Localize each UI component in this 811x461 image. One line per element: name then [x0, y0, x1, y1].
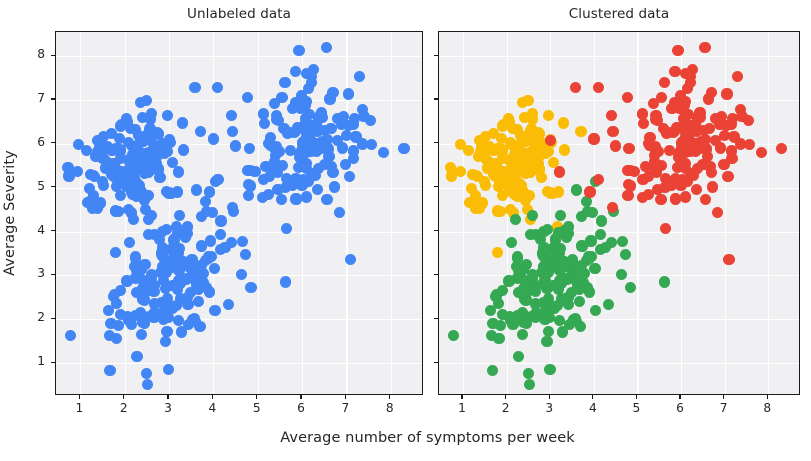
right-y-tick-mark — [434, 142, 438, 143]
right-x-tick-label: 8 — [753, 401, 781, 415]
scatter-point-clustered — [721, 88, 732, 99]
scatter-point-clustered — [610, 140, 621, 151]
scatter-point — [245, 180, 256, 191]
scatter-point — [272, 184, 283, 195]
scatter-point-clustered — [513, 152, 524, 163]
scatter-point-clustered — [487, 365, 498, 376]
left-x-tick-label: 1 — [65, 401, 93, 415]
scatter-point-clustered — [515, 180, 526, 191]
scatter-point-clustered — [496, 167, 507, 178]
right-x-tick-label: 6 — [666, 401, 694, 415]
scatter-point — [141, 368, 152, 379]
scatter-point-clustered — [497, 309, 508, 320]
scatter-point — [135, 273, 146, 284]
scatter-point-clustered — [625, 282, 636, 293]
scatter-point — [237, 236, 248, 247]
scatter-point-clustered — [554, 166, 565, 177]
scatter-point — [115, 285, 126, 296]
scatter-point — [145, 210, 156, 221]
scatter-point-clustered — [574, 296, 585, 307]
scatter-point — [174, 210, 185, 221]
scatter-point — [259, 118, 270, 129]
scatter-point-clustered — [492, 205, 503, 216]
scatter-point-clustered — [699, 42, 710, 53]
scatter-point-clustered — [600, 242, 611, 253]
scatter-point — [230, 140, 241, 151]
left-y-tick-mark — [51, 55, 55, 56]
scatter-point — [164, 255, 175, 266]
left-y-tick-label: 3 — [15, 266, 45, 280]
panel-title-right: Clustered data — [438, 6, 800, 22]
scatter-point-clustered — [538, 226, 549, 237]
scatter-point-clustered — [522, 95, 533, 106]
scatter-point — [227, 202, 238, 213]
scatter-point — [143, 190, 154, 201]
scatter-point-clustered — [559, 144, 570, 155]
left-y-tick-label: 2 — [15, 310, 45, 324]
scatter-point — [195, 126, 206, 137]
scatter-point-clustered — [707, 181, 718, 192]
scatter-point-clustered — [659, 276, 670, 287]
gridline-vertical — [80, 32, 81, 394]
scatter-point — [321, 194, 332, 205]
right-x-tick-mark — [679, 395, 680, 399]
scatter-point — [193, 296, 204, 307]
scatter-point — [208, 133, 219, 144]
scatter-point — [340, 159, 351, 170]
scatter-point — [141, 95, 152, 106]
scatter-point — [177, 117, 188, 128]
scatter-point-clustered — [637, 174, 648, 185]
scatter-point-clustered — [593, 82, 604, 93]
scatter-point — [173, 166, 184, 177]
left-y-tick-mark — [51, 142, 55, 143]
x-axis-label: Average number of symptoms per week — [55, 430, 800, 446]
right-x-tick-label: 7 — [710, 401, 738, 415]
scatter-point-clustered — [721, 120, 732, 131]
scatter-point-clustered — [495, 320, 506, 331]
scatter-point — [332, 113, 343, 124]
scatter-point-clustered — [596, 215, 607, 226]
scatter-point — [293, 162, 304, 173]
scatter-point-clustered — [681, 123, 692, 134]
scatter-point — [131, 152, 142, 163]
scatter-point-clustered — [576, 240, 587, 251]
scatter-point-clustered — [669, 66, 680, 77]
right-y-tick-mark — [434, 362, 438, 363]
scatter-point — [242, 92, 253, 103]
left-y-tick-label: 7 — [15, 91, 45, 105]
scatter-point-clustered — [543, 326, 554, 337]
right-x-tick-mark — [592, 395, 593, 399]
scatter-point — [281, 223, 292, 234]
scatter-point — [146, 269, 157, 280]
right-y-tick-mark — [434, 186, 438, 187]
scatter-point-clustered — [603, 299, 614, 310]
scatter-point-clustered — [448, 330, 459, 341]
scatter-point — [114, 167, 125, 178]
scatter-point-clustered — [756, 147, 767, 158]
scatter-point-clustered — [535, 147, 546, 158]
scatter-point-clustered — [732, 71, 743, 82]
gridline-vertical — [463, 32, 464, 394]
scatter-point — [291, 193, 302, 204]
scatter-point — [280, 276, 291, 287]
scatter-point — [115, 309, 126, 320]
scatter-point-clustered — [582, 282, 593, 293]
right-x-tick-mark — [549, 395, 550, 399]
scatter-point-clustered — [623, 143, 634, 154]
gridline-horizontal — [439, 363, 799, 364]
left-x-tick-label: 2 — [110, 401, 138, 415]
scatter-point-clustered — [523, 368, 534, 379]
scatter-point-clustered — [659, 77, 670, 88]
scatter-point — [327, 167, 338, 178]
left-x-tick-label: 7 — [331, 401, 359, 415]
scatter-point — [219, 242, 230, 253]
scatter-point-clustered — [527, 210, 538, 221]
scatter-point-clustered — [563, 221, 574, 232]
scatter-point-clustered — [584, 186, 595, 197]
scatter-point-clustered — [706, 167, 717, 178]
scatter-point — [223, 299, 234, 310]
scatter-point-clustered — [554, 265, 565, 276]
left-y-tick-label: 4 — [15, 223, 45, 237]
scatter-point-clustered — [682, 109, 693, 120]
scatter-point-clustered — [575, 321, 586, 332]
scatter-point — [290, 66, 301, 77]
scatter-point — [209, 305, 220, 316]
scatter-point — [189, 82, 200, 93]
scatter-point — [139, 259, 150, 270]
scatter-point — [303, 109, 314, 120]
scatter-point-clustered — [544, 364, 555, 375]
scatter-point-clustered — [576, 211, 587, 222]
scatter-point — [136, 288, 147, 299]
scatter-point-clustered — [694, 137, 705, 148]
gridline-vertical — [768, 32, 769, 394]
left-x-tick-mark — [167, 395, 168, 399]
scatter-point — [123, 179, 134, 190]
scatter-point-clustered — [625, 180, 636, 191]
scatter-point — [163, 187, 174, 198]
y-axis-label: Average Severity — [2, 148, 18, 278]
scatter-point-clustered — [700, 194, 711, 205]
scatter-point-clustered — [704, 123, 715, 134]
scatter-point-clustered — [723, 254, 734, 265]
scatter-point-clustered — [718, 159, 729, 170]
scatter-point — [277, 160, 288, 171]
scatter-point-clustered — [691, 184, 702, 195]
scatter-point-clustered — [607, 126, 618, 137]
scatter-point-clustered — [524, 190, 535, 201]
scatter-point-clustered — [555, 210, 566, 221]
scatter-point — [124, 237, 135, 248]
scatter-plot-unlabeled — [55, 31, 423, 395]
right-x-tick-label: 2 — [492, 401, 520, 415]
left-x-tick-mark — [212, 395, 213, 399]
scatter-point-clustered — [506, 237, 517, 248]
left-x-tick-label: 8 — [376, 401, 404, 415]
left-y-tick-mark — [51, 186, 55, 187]
scatter-point — [378, 147, 389, 158]
scatter-point — [206, 251, 217, 262]
scatter-point — [162, 110, 173, 121]
scatter-point-clustered — [570, 82, 581, 93]
scatter-point — [357, 138, 368, 149]
scatter-point-clustered — [622, 92, 633, 103]
scatter-point — [244, 143, 255, 154]
scatter-point — [344, 171, 355, 182]
scatter-point-clustered — [586, 251, 597, 262]
scatter-point-clustered — [590, 305, 601, 316]
scatter-point-clustered — [735, 138, 746, 149]
scatter-point — [301, 96, 312, 107]
left-y-tick-label: 8 — [15, 47, 45, 61]
left-y-tick-mark — [51, 98, 55, 99]
scatter-point — [164, 135, 175, 146]
scatter-point-clustered — [672, 162, 683, 173]
gridline-horizontal — [56, 56, 422, 57]
scatter-point-clustered — [656, 92, 667, 103]
left-y-tick-mark — [51, 274, 55, 275]
scatter-point-clustered — [638, 118, 649, 129]
scatter-point-clustered — [517, 307, 528, 318]
scatter-point — [365, 115, 376, 126]
scatter-point-clustered — [571, 184, 582, 195]
scatter-point — [212, 82, 223, 93]
scatter-point — [334, 207, 345, 218]
left-x-tick-mark — [123, 395, 124, 399]
scatter-point-clustered — [694, 107, 705, 118]
scatter-point — [135, 307, 146, 318]
scatter-point — [276, 92, 287, 103]
scatter-point — [302, 123, 313, 134]
scatter-point-clustered — [588, 133, 599, 144]
scatter-point-clustered — [572, 263, 583, 274]
scatter-point-clustered — [510, 214, 521, 225]
left-x-tick-label: 4 — [198, 401, 226, 415]
scatter-point — [209, 263, 220, 274]
right-y-tick-mark — [434, 98, 438, 99]
scatter-point-clustered — [620, 249, 631, 260]
left-x-tick-label: 6 — [287, 401, 315, 415]
scatter-point — [136, 329, 147, 340]
left-x-tick-mark — [300, 395, 301, 399]
scatter-point-clustered — [513, 351, 524, 362]
scatter-point — [245, 165, 256, 176]
scatter-point-clustered — [776, 143, 787, 154]
scatter-point — [226, 110, 237, 121]
gridline-horizontal — [56, 100, 422, 101]
left-y-tick-mark — [51, 318, 55, 319]
right-y-tick-mark — [434, 55, 438, 56]
right-x-tick-label: 4 — [579, 401, 607, 415]
scatter-point-clustered — [467, 169, 478, 180]
scatter-point-clustered — [715, 142, 726, 153]
scatter-point — [182, 221, 193, 232]
scatter-point — [139, 318, 150, 329]
scatter-point-clustered — [743, 115, 754, 126]
gridline-vertical — [346, 32, 347, 394]
gridline-vertical — [725, 32, 726, 394]
left-y-tick-mark — [51, 230, 55, 231]
scatter-point — [196, 240, 207, 251]
scatter-point-clustered — [606, 110, 617, 121]
scatter-point-clustered — [710, 113, 721, 124]
scatter-point — [398, 143, 409, 154]
scatter-point — [191, 184, 202, 195]
left-x-tick-mark — [256, 395, 257, 399]
scatter-point-clustered — [680, 191, 691, 202]
scatter-point — [337, 142, 348, 153]
scatter-point — [271, 141, 282, 152]
gridline-horizontal — [439, 56, 799, 57]
scatter-point — [293, 45, 304, 56]
scatter-point — [343, 120, 354, 131]
scatter-point — [62, 162, 73, 173]
scatter-point-clustered — [593, 174, 604, 185]
left-y-tick-label: 1 — [15, 354, 45, 368]
scatter-point — [196, 211, 207, 222]
scatter-point-clustered — [656, 160, 667, 171]
gridline-horizontal — [439, 232, 799, 233]
figure-canvas: Unlabeled data Clustered data 1234567812… — [0, 0, 811, 461]
left-x-tick-mark — [389, 395, 390, 399]
scatter-point-clustered — [545, 187, 556, 198]
scatter-point-clustered — [607, 202, 618, 213]
scatter-point — [204, 186, 215, 197]
scatter-point — [156, 247, 167, 258]
scatter-point — [144, 123, 155, 134]
scatter-point — [113, 320, 124, 331]
scatter-point — [240, 249, 251, 260]
right-x-tick-mark — [461, 395, 462, 399]
scatter-point — [329, 181, 340, 192]
scatter-point — [212, 174, 223, 185]
scatter-point — [128, 214, 139, 225]
right-y-tick-mark — [434, 274, 438, 275]
scatter-point — [104, 158, 115, 169]
gridline-horizontal — [439, 100, 799, 101]
scatter-point-clustered — [493, 298, 504, 309]
right-x-tick-mark — [723, 395, 724, 399]
scatter-point-clustered — [680, 96, 691, 107]
scatter-point — [227, 126, 238, 137]
scatter-plot-clustered — [438, 31, 800, 395]
scatter-point — [115, 190, 126, 201]
scatter-point-clustered — [595, 229, 606, 240]
scatter-point-clustered — [655, 194, 666, 205]
scatter-point — [316, 107, 327, 118]
scatter-point — [191, 280, 202, 291]
scatter-point — [194, 321, 205, 332]
scatter-point-clustered — [581, 196, 592, 207]
scatter-point-clustered — [493, 333, 504, 344]
scatter-point — [354, 71, 365, 82]
scatter-point — [161, 326, 172, 337]
scatter-point-clustered — [517, 288, 528, 299]
left-y-tick-mark — [51, 362, 55, 363]
scatter-point — [176, 326, 187, 337]
right-x-tick-mark — [636, 395, 637, 399]
scatter-point — [321, 42, 332, 53]
scatter-point — [324, 93, 335, 104]
right-x-tick-mark — [767, 395, 768, 399]
scatter-point-clustered — [524, 379, 535, 390]
right-x-tick-label: 1 — [448, 401, 476, 415]
scatter-point-clustered — [455, 166, 466, 177]
left-x-tick-mark — [345, 395, 346, 399]
scatter-point — [85, 169, 96, 180]
scatter-point-clustered — [557, 326, 568, 337]
left-y-tick-label: 6 — [15, 135, 45, 149]
left-x-tick-label: 3 — [154, 401, 182, 415]
scatter-point — [173, 265, 184, 276]
scatter-point — [245, 282, 256, 293]
scatter-point — [276, 194, 287, 205]
scatter-point-clustered — [558, 117, 569, 128]
scatter-point-clustered — [575, 126, 586, 137]
right-x-tick-mark — [505, 395, 506, 399]
right-y-tick-mark — [434, 318, 438, 319]
scatter-point — [325, 123, 336, 134]
scatter-point-clustered — [517, 329, 528, 340]
panel-title-left: Unlabeled data — [55, 6, 423, 22]
scatter-point — [312, 184, 323, 195]
scatter-point-clustered — [722, 171, 733, 182]
right-x-tick-label: 3 — [535, 401, 563, 415]
scatter-point-clustered — [539, 275, 550, 286]
gridline-vertical — [391, 32, 392, 394]
scatter-point-clustered — [624, 165, 635, 176]
scatter-point — [236, 269, 247, 280]
scatter-point — [215, 229, 226, 240]
scatter-point-clustered — [492, 247, 503, 258]
scatter-point — [301, 146, 312, 157]
scatter-point — [131, 351, 142, 362]
scatter-point-clustered — [544, 304, 555, 315]
gridline-vertical — [637, 32, 638, 394]
scatter-point — [65, 330, 76, 341]
left-y-tick-label: 5 — [15, 179, 45, 193]
scatter-point — [162, 304, 173, 315]
scatter-point — [192, 263, 203, 274]
scatter-point — [110, 205, 121, 216]
scatter-point — [345, 254, 356, 265]
scatter-point — [301, 191, 312, 202]
scatter-point-clustered — [505, 179, 516, 190]
scatter-point-clustered — [497, 285, 508, 296]
scatter-point-clustered — [537, 247, 548, 258]
scatter-point — [110, 247, 121, 258]
scatter-point — [215, 215, 226, 226]
scatter-point — [84, 183, 95, 194]
scatter-point-clustered — [545, 255, 556, 266]
right-x-tick-label: 5 — [622, 401, 650, 415]
scatter-point — [72, 166, 83, 177]
scatter-point — [142, 379, 153, 390]
scatter-point-clustered — [521, 318, 532, 329]
scatter-point — [111, 333, 122, 344]
scatter-point-clustered — [670, 193, 681, 204]
scatter-point-clustered — [680, 146, 691, 157]
gridline-horizontal — [56, 232, 422, 233]
scatter-point-clustered — [497, 190, 508, 201]
scatter-point — [200, 196, 211, 207]
scatter-point-clustered — [617, 236, 628, 247]
scatter-point — [306, 168, 317, 179]
